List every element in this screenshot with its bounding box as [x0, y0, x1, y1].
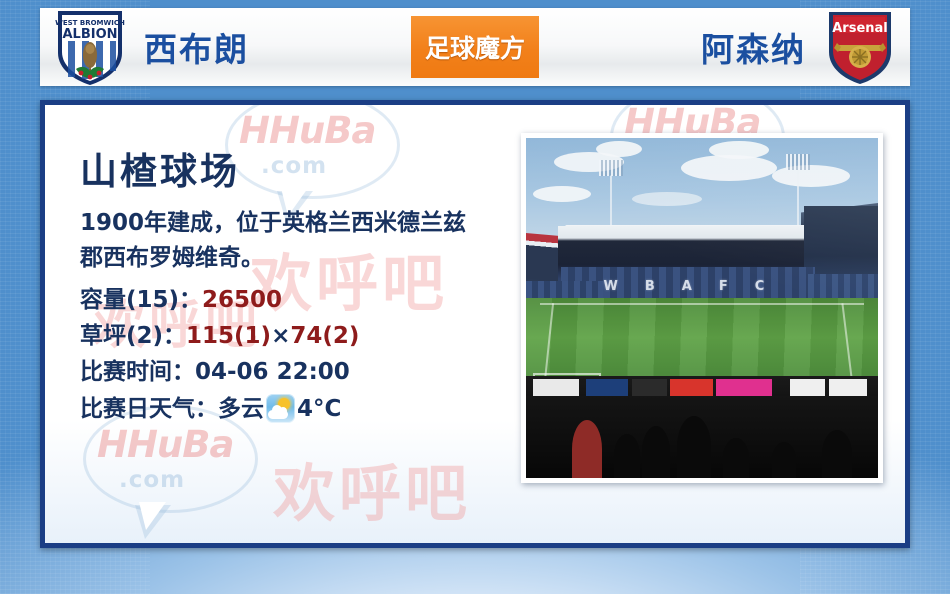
home-team-name: 西布朗: [144, 23, 249, 71]
seat-letter: A: [682, 279, 693, 294]
stadium-info-card-page: WEST BROMWICH ALBION 西布朗 足球魔方: [0, 0, 950, 594]
weather-condition: 多云: [218, 391, 264, 427]
match-header: WEST BROMWICH ALBION 西布朗 足球魔方: [40, 8, 910, 86]
seat-letter: B: [645, 279, 656, 294]
weather-temperature: 4°C: [297, 391, 341, 427]
capacity-row: 容量(15)：26500: [80, 282, 475, 318]
away-team-name: 阿森纳: [701, 23, 806, 71]
away-team-block[interactable]: Arsenal 阿森纳: [701, 8, 910, 86]
match-time-row: 比赛时间：04-06 22:00: [80, 354, 475, 390]
pitch-size-separator: ×: [271, 323, 290, 349]
seat-letter: F: [719, 279, 729, 294]
seat-letter: C: [755, 279, 766, 294]
weather-row: 比赛日天气：多云 4°C: [80, 391, 475, 427]
stadium-info-card: HHuBa .com HHuBa .com HHuBa .com 欢呼吧 欢呼吧…: [40, 100, 910, 548]
stadium-photo: W B A F C: [526, 138, 878, 478]
watermark-brand-cn-bottom: 欢呼吧: [273, 443, 471, 533]
pitch-size-row: 草坪(2)：115(1)×74(2): [80, 318, 475, 354]
stadium-photo-frame[interactable]: W B A F C: [521, 133, 883, 483]
match-time-value: 04-06 22:00: [195, 359, 350, 385]
stadium-details: 山楂球场 1900年建成，位于英格兰西米德兰兹郡西布罗姆维奇。 容量(15)：2…: [45, 105, 475, 427]
match-time-label: 比赛时间：: [80, 359, 195, 385]
svg-text:Arsenal: Arsenal: [832, 21, 888, 36]
partly-cloudy-icon: [266, 394, 295, 423]
pitch-length-value: 115(1): [186, 323, 271, 349]
home-team-block[interactable]: WEST BROMWICH ALBION 西布朗: [40, 8, 249, 86]
arsenal-crest-icon: Arsenal: [824, 7, 896, 87]
weather-label: 比赛日天气：: [80, 391, 218, 427]
watermark-domain-bottom: .com: [119, 467, 185, 493]
capacity-label: 容量(15)：: [80, 287, 202, 313]
svg-text:ALBION: ALBION: [62, 27, 117, 42]
watermark-brand-latin-bottom: HHuBa: [97, 423, 233, 466]
stadium-description: 1900年建成，位于英格兰西米德兰兹郡西布罗姆维奇。: [80, 206, 475, 276]
pitch-width-value: 74(2): [290, 323, 359, 349]
site-logo[interactable]: 足球魔方: [411, 16, 539, 78]
capacity-value: 26500: [202, 287, 282, 313]
pitch-size-label: 草坪(2)：: [80, 323, 186, 349]
seat-lettering: W B A F C: [603, 276, 765, 298]
svg-text:WEST BROMWICH: WEST BROMWICH: [55, 19, 125, 27]
seat-letter: W: [603, 279, 618, 294]
page-title: 山楂球场: [80, 153, 475, 192]
west-bromwich-albion-crest-icon: WEST BROMWICH ALBION: [54, 7, 126, 87]
site-logo-text: 足球魔方: [425, 29, 525, 65]
